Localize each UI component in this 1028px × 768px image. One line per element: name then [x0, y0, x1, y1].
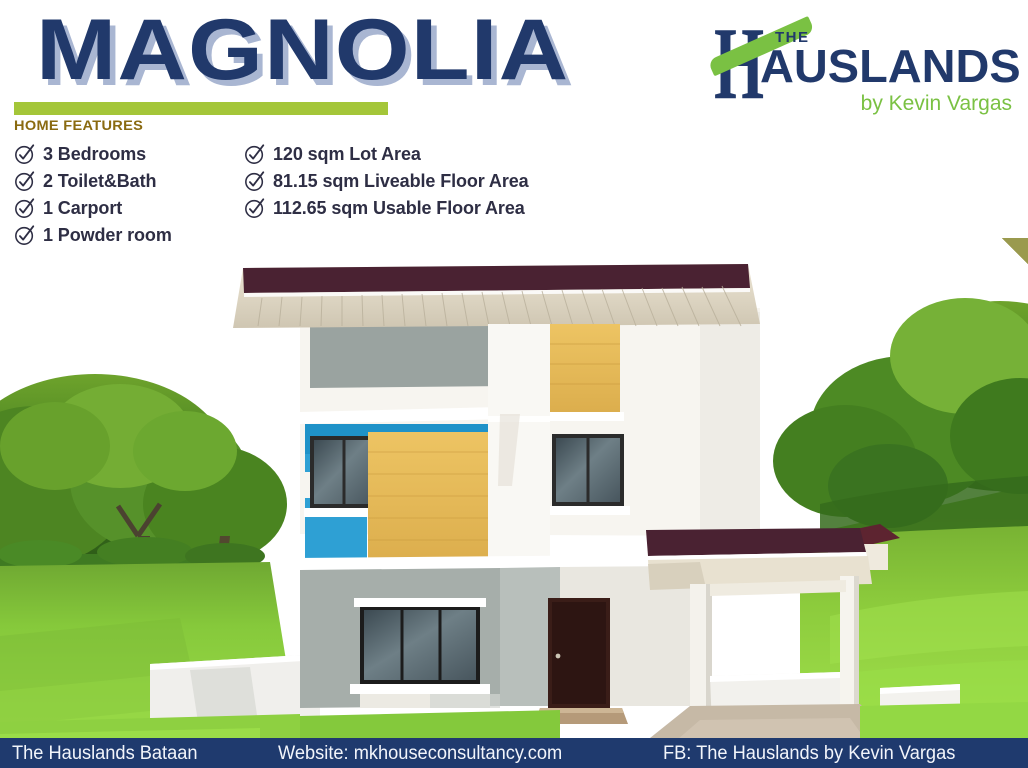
house-photo [0, 236, 1028, 746]
check-circle-icon [244, 170, 266, 192]
footer-website[interactable]: Website: mkhouseconsultancy.com [278, 742, 562, 765]
accent-bar [14, 102, 388, 115]
check-circle-icon [244, 197, 266, 219]
footer-facebook[interactable]: FB: The Hauslands by Kevin Vargas [663, 742, 955, 765]
carport-fascia [646, 528, 866, 556]
check-circle-icon [244, 143, 266, 165]
check-circle-icon [14, 197, 36, 219]
header: MAGNOLIA HOME FEATURES H THE AUSLANDS by… [0, 0, 1028, 135]
feature-item: 120 sqm Lot Area [244, 140, 529, 167]
feature-label: 81.15 sqm Liveable Floor Area [273, 171, 529, 191]
feature-label: 112.65 sqm Usable Floor Area [273, 198, 525, 218]
feature-item: 81.15 sqm Liveable Floor Area [244, 167, 529, 194]
feature-item: 2 Toilet&Bath [14, 167, 172, 194]
home-features-label: HOME FEATURES [14, 117, 143, 133]
feature-label: 1 Carport [43, 198, 122, 218]
home-features-list: 3 Bedrooms 2 Toilet&Bath 1 Carport 1 Pow… [0, 140, 1028, 250]
feature-label: 120 sqm Lot Area [273, 144, 421, 164]
corner-triangle-accent [1002, 238, 1028, 264]
feature-item: 1 Powder room [14, 221, 172, 248]
features-column-left: 3 Bedrooms 2 Toilet&Bath 1 Carport 1 Pow… [14, 140, 172, 248]
feature-item: 3 Bedrooms [14, 140, 172, 167]
feature-label: 3 Bedrooms [43, 144, 146, 164]
feature-item: 112.65 sqm Usable Floor Area [244, 194, 529, 221]
footer-location: The Hauslands Bataan [12, 742, 198, 765]
upper-yellow-panel [550, 324, 620, 412]
feature-label: 2 Toilet&Bath [43, 171, 156, 191]
flyer-page: MAGNOLIA HOME FEATURES H THE AUSLANDS by… [0, 0, 1028, 768]
page-title-wrap: MAGNOLIA [36, 2, 512, 98]
roof-fascia [243, 264, 750, 293]
brand-logo[interactable]: H THE AUSLANDS by Kevin Vargas [705, 8, 1020, 120]
feature-label: 1 Powder room [43, 225, 172, 245]
logo-tagline: by Kevin Vargas [861, 92, 1012, 116]
page-title: MAGNOLIA [36, 2, 569, 98]
check-circle-icon [14, 170, 36, 192]
check-circle-icon [14, 224, 36, 246]
feature-item: 1 Carport [14, 194, 172, 221]
footer-bar: The Hauslands Bataan Website: mkhousecon… [0, 738, 1028, 768]
check-circle-icon [14, 143, 36, 165]
features-column-right: 120 sqm Lot Area 81.15 sqm Liveable Floo… [244, 140, 529, 221]
logo-brand-name: AUSLANDS [760, 41, 1021, 91]
house-illustration [0, 236, 1028, 746]
